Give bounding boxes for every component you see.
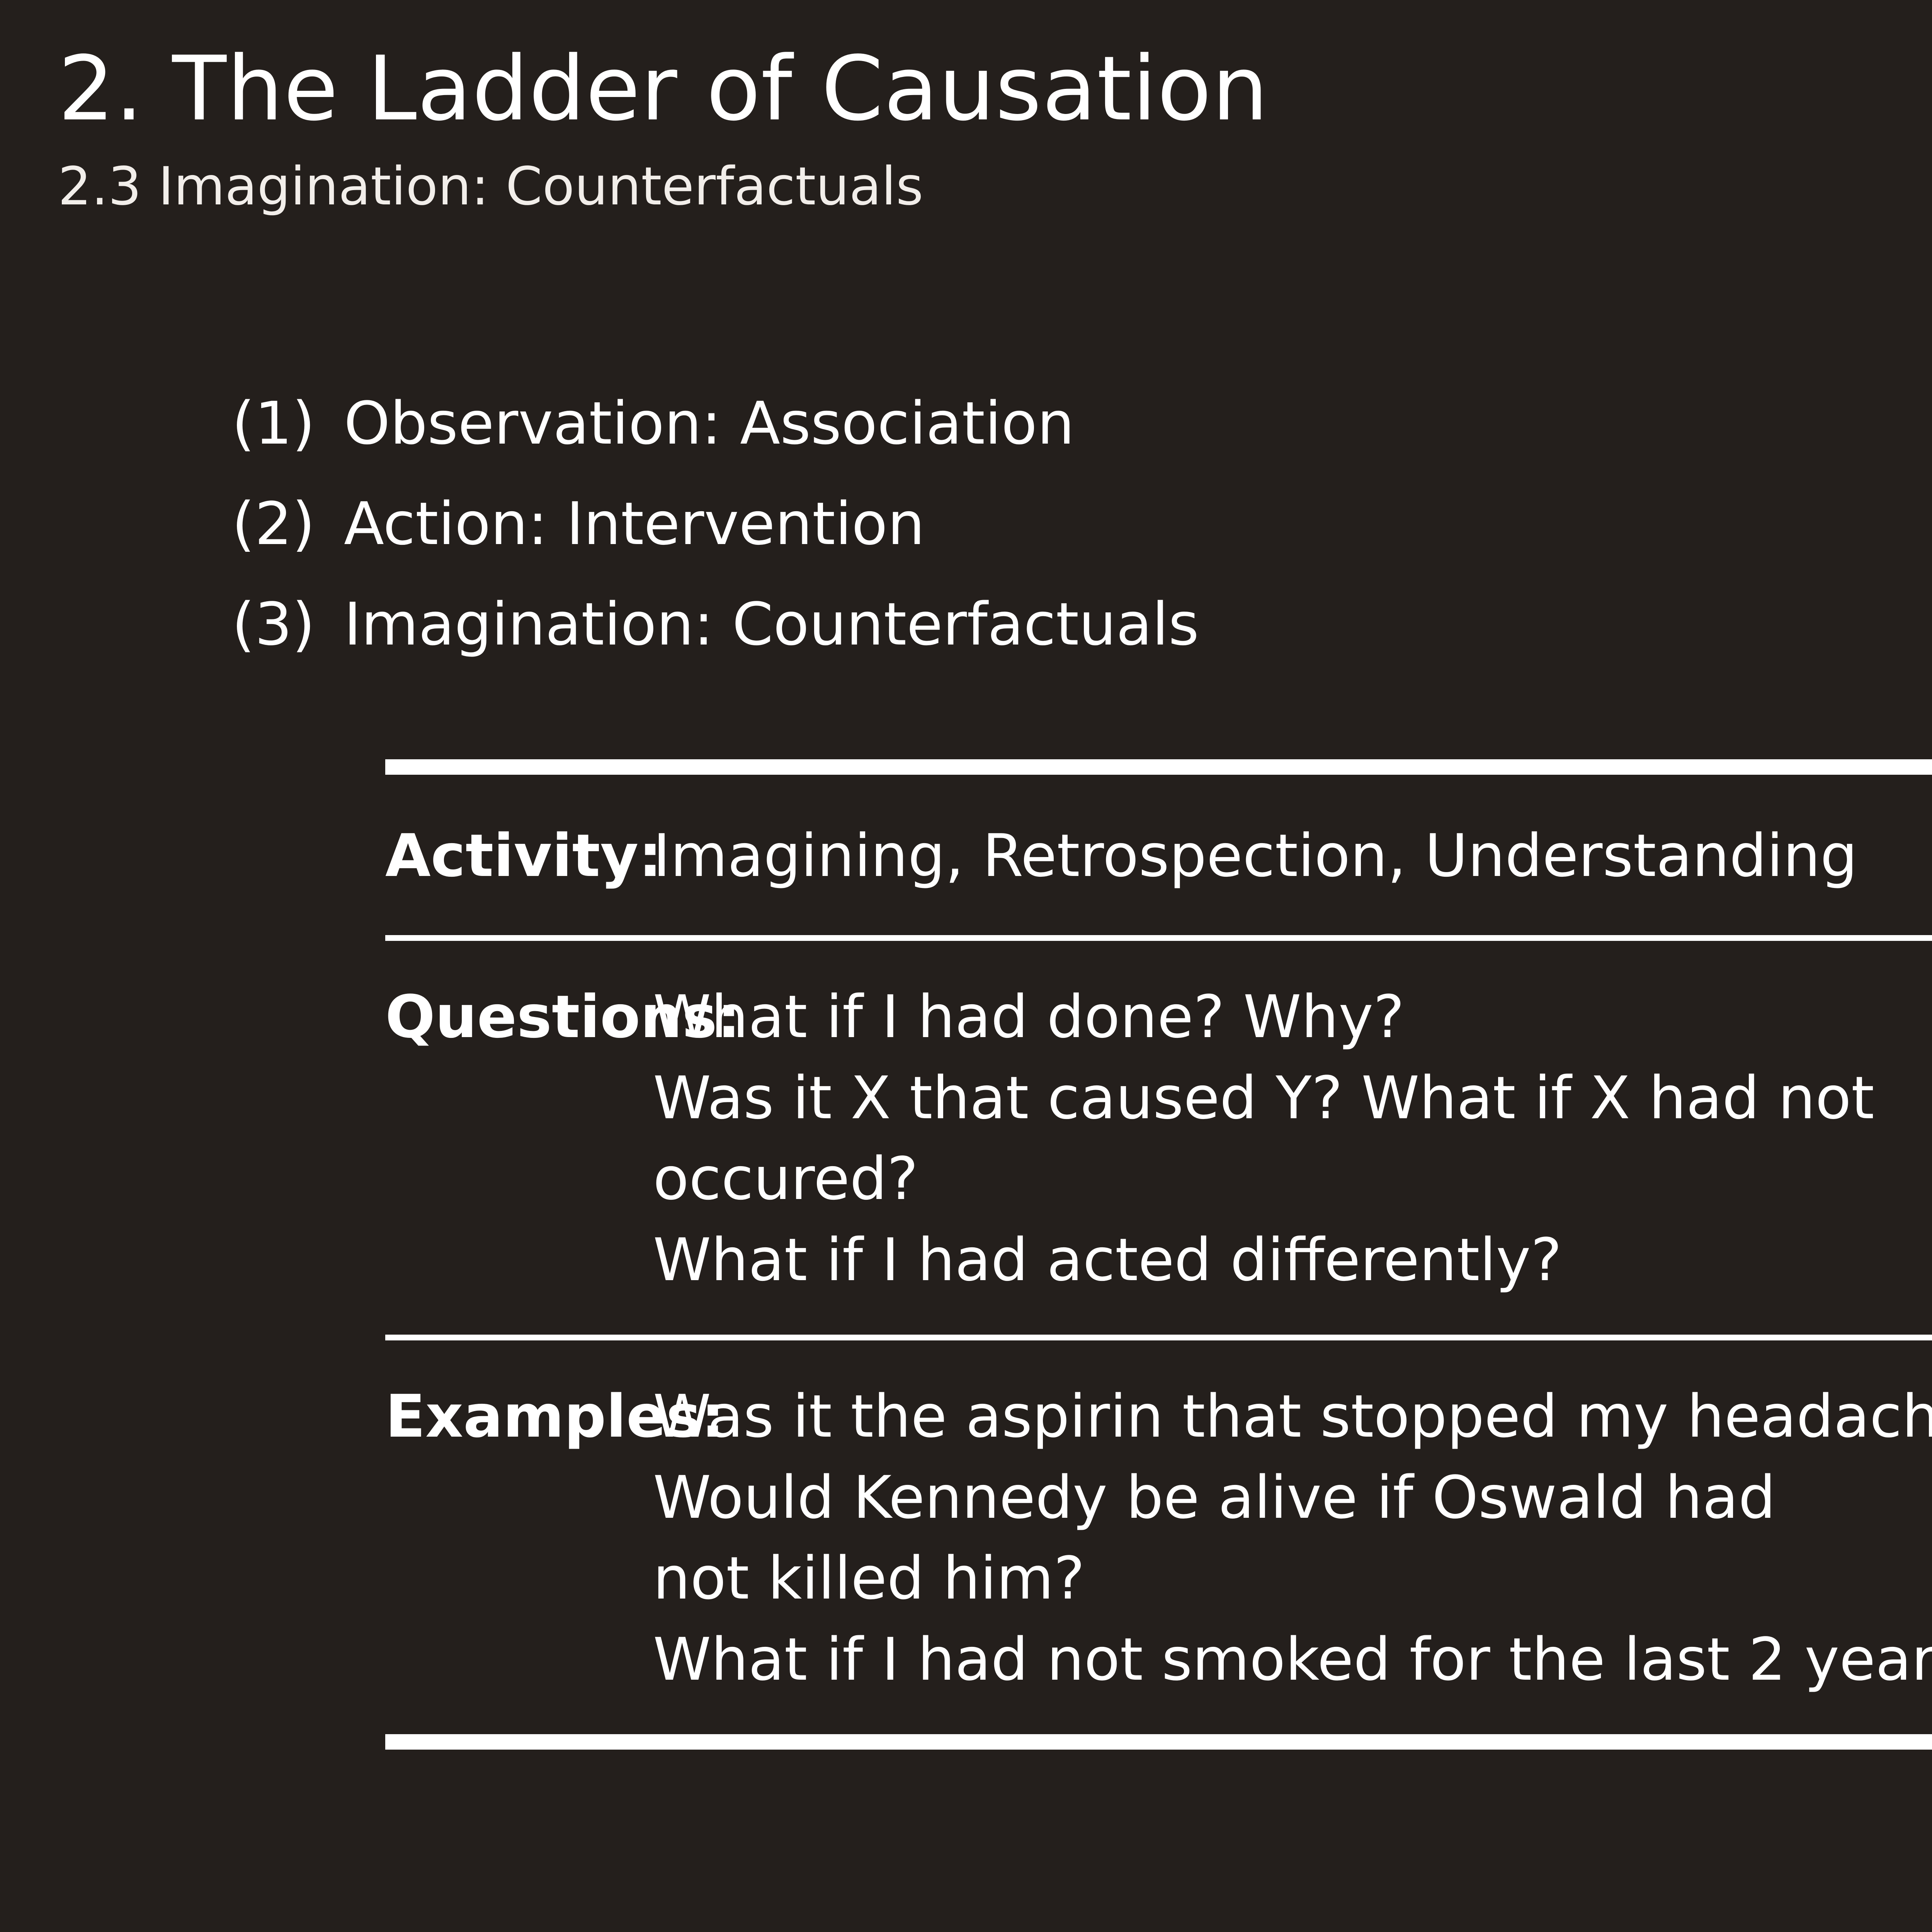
table-row-label: Examples: bbox=[385, 1376, 564, 1457]
list-item-label: Action: Intervention bbox=[344, 495, 925, 553]
table-row: Questions: What if I had done? Why? Was … bbox=[385, 941, 1932, 1335]
ladder-detail-table: Activity: Imagining, Retrospection, Unde… bbox=[385, 759, 1932, 1750]
table-cell-line: What if I had acted differently? bbox=[653, 1219, 1932, 1301]
list-item-label: Observation: Association bbox=[344, 394, 1075, 453]
list-item-number: (1) bbox=[232, 394, 344, 453]
table-row-value: What if I had done? Why? Was it X that c… bbox=[564, 976, 1932, 1301]
table-top-rule bbox=[385, 759, 1932, 775]
list-item-number: (2) bbox=[232, 495, 344, 553]
slide-canvas: 2. The Ladder of Causation 2.3 Imaginati… bbox=[0, 0, 1932, 1932]
table-row-value: Imagining, Retrospection, Understanding bbox=[564, 815, 1932, 896]
table-row-label: Activity: bbox=[385, 815, 564, 896]
table-bottom-rule bbox=[385, 1734, 1932, 1750]
list-item: (3) Imagination: Counterfactuals bbox=[232, 595, 1932, 654]
page-subtitle: 2.3 Imagination: Counterfactuals bbox=[58, 159, 1932, 214]
ladder-list: (1) Observation: Association (2) Action:… bbox=[232, 394, 1932, 696]
table-cell-line: not killed him? bbox=[653, 1538, 1932, 1619]
table-cell-line: Imagining, Retrospection, Understanding bbox=[653, 815, 1932, 896]
list-item: (2) Action: Intervention bbox=[232, 495, 1932, 553]
table-cell-line: What if I had done? Why? bbox=[653, 976, 1932, 1058]
table-mid-rule-1 bbox=[385, 935, 1932, 941]
list-item: (1) Observation: Association bbox=[232, 394, 1932, 453]
table-row-label: Questions: bbox=[385, 976, 564, 1058]
list-item-number: (3) bbox=[232, 595, 344, 654]
table-row-value: Was it the aspirin that stopped my heada… bbox=[564, 1376, 1932, 1700]
page-title: 2. The Ladder of Causation bbox=[58, 43, 1932, 136]
table-cell-line: What if I had not smoked for the last 2 … bbox=[653, 1619, 1932, 1700]
table-mid-rule-2 bbox=[385, 1335, 1932, 1340]
table-row: Activity: Imagining, Retrospection, Unde… bbox=[385, 775, 1932, 935]
list-item-label: Imagination: Counterfactuals bbox=[344, 595, 1199, 654]
table-cell-line: Would Kennedy be alive if Oswald had bbox=[653, 1457, 1932, 1538]
table-cell-line: Was it the aspirin that stopped my heada… bbox=[653, 1376, 1932, 1457]
table-cell-line: Was it X that caused Y? What if X had no… bbox=[653, 1058, 1932, 1139]
table-row: Examples: Was it the aspirin that stoppe… bbox=[385, 1340, 1932, 1734]
table-cell-line: occured? bbox=[653, 1138, 1932, 1219]
slide-header: 2. The Ladder of Causation 2.3 Imaginati… bbox=[58, 43, 1932, 214]
